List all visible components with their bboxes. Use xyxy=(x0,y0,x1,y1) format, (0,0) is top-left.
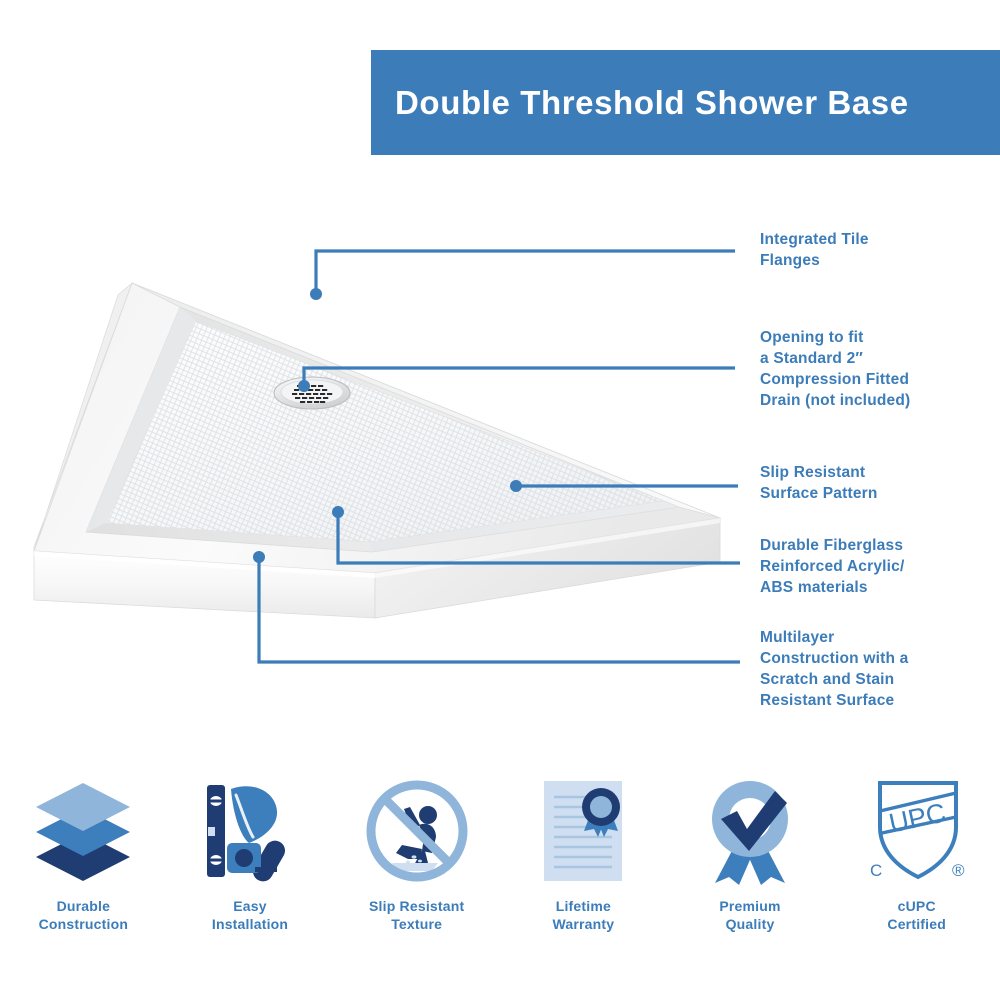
leader-dot-durable-materials xyxy=(332,506,344,518)
award-check-ribbon-icon xyxy=(695,775,805,887)
callout-line: Reinforced Acrylic/ xyxy=(760,557,905,578)
upc-shield-icon: UPC C ® xyxy=(862,775,972,887)
callout-line: Construction with a xyxy=(760,649,908,670)
no-slip-icon xyxy=(362,775,472,887)
feature-label-line: Warranty xyxy=(552,915,614,933)
callout-line: a Standard 2″ xyxy=(760,349,910,370)
feature-label: Easy Installation xyxy=(212,897,288,933)
feature-durable-construction: Durable Construction xyxy=(0,775,167,975)
callout-line: Compression Fitted xyxy=(760,370,910,391)
infographic-canvas: Double Threshold Shower Base xyxy=(0,0,1000,1000)
feature-easy-installation: Easy Installation xyxy=(167,775,334,975)
feature-label-line: Quality xyxy=(719,915,780,933)
feature-cupc-certified: UPC C ® cUPC Certified xyxy=(833,775,1000,975)
shield-left-text: C xyxy=(870,861,882,880)
feature-strip: Durable Construction xyxy=(0,775,1000,975)
leader-dot-standard-drain-opening xyxy=(298,380,310,392)
feature-label-line: Certified xyxy=(887,915,946,933)
feature-label: Premium Quality xyxy=(719,897,780,933)
callout-line: ABS materials xyxy=(760,578,905,599)
feature-label-line: Lifetime xyxy=(552,897,614,915)
feature-lifetime-warranty: Lifetime Warranty xyxy=(500,775,667,975)
feature-label: Durable Construction xyxy=(39,897,129,933)
callout-line: Slip Resistant xyxy=(760,463,878,484)
shield-main-text: UPC xyxy=(886,797,948,838)
callout-line: Flanges xyxy=(760,251,869,272)
callout-durable-materials: Durable Fiberglass Reinforced Acrylic/ A… xyxy=(760,536,905,599)
feature-label-line: Slip Resistant xyxy=(369,897,464,915)
feature-label: Lifetime Warranty xyxy=(552,897,614,933)
certificate-icon xyxy=(528,775,638,887)
callout-integrated-tile-flanges: Integrated Tile Flanges xyxy=(760,230,869,272)
callout-line: Multilayer xyxy=(760,628,908,649)
feature-label-line: Easy xyxy=(212,897,288,915)
callout-multilayer-construction: Multilayer Construction with a Scratch a… xyxy=(760,628,908,712)
leader-dot-multilayer-construction xyxy=(253,551,265,563)
leader-integrated-tile-flanges xyxy=(316,251,735,294)
shield-right-text: ® xyxy=(952,861,965,880)
callout-standard-drain-opening: Opening to fit a Standard 2″ Compression… xyxy=(760,328,910,412)
callout-line: Drain (not included) xyxy=(760,391,910,412)
callout-line: Opening to fit xyxy=(760,328,910,349)
feature-label-line: Construction xyxy=(39,915,129,933)
callout-line: Integrated Tile xyxy=(760,230,869,251)
leader-dot-integrated-tile-flanges xyxy=(310,288,322,300)
feature-label-line: Installation xyxy=(212,915,288,933)
feature-label-line: Durable xyxy=(39,897,129,915)
leader-standard-drain-opening xyxy=(304,368,735,386)
stacked-layers-icon xyxy=(28,775,138,887)
feature-label-line: cUPC xyxy=(887,897,946,915)
callout-line: Durable Fiberglass xyxy=(760,536,905,557)
feature-label: cUPC Certified xyxy=(887,897,946,933)
leader-durable-materials xyxy=(338,512,740,563)
feature-label-line: Texture xyxy=(369,915,464,933)
feature-slip-resistant-texture: Slip Resistant Texture xyxy=(333,775,500,975)
leader-dot-slip-resistant-surface-pattern xyxy=(510,480,522,492)
feature-premium-quality: Premium Quality xyxy=(667,775,834,975)
callout-slip-resistant-surface-pattern: Slip Resistant Surface Pattern xyxy=(760,463,878,505)
callout-line: Resistant Surface xyxy=(760,691,908,712)
callout-line: Surface Pattern xyxy=(760,484,878,505)
callout-line: Scratch and Stain xyxy=(760,670,908,691)
feature-label: Slip Resistant Texture xyxy=(369,897,464,933)
leader-multilayer-construction xyxy=(259,557,740,662)
feature-label-line: Premium xyxy=(719,897,780,915)
tools-level-trowel-tape-icon xyxy=(195,775,305,887)
